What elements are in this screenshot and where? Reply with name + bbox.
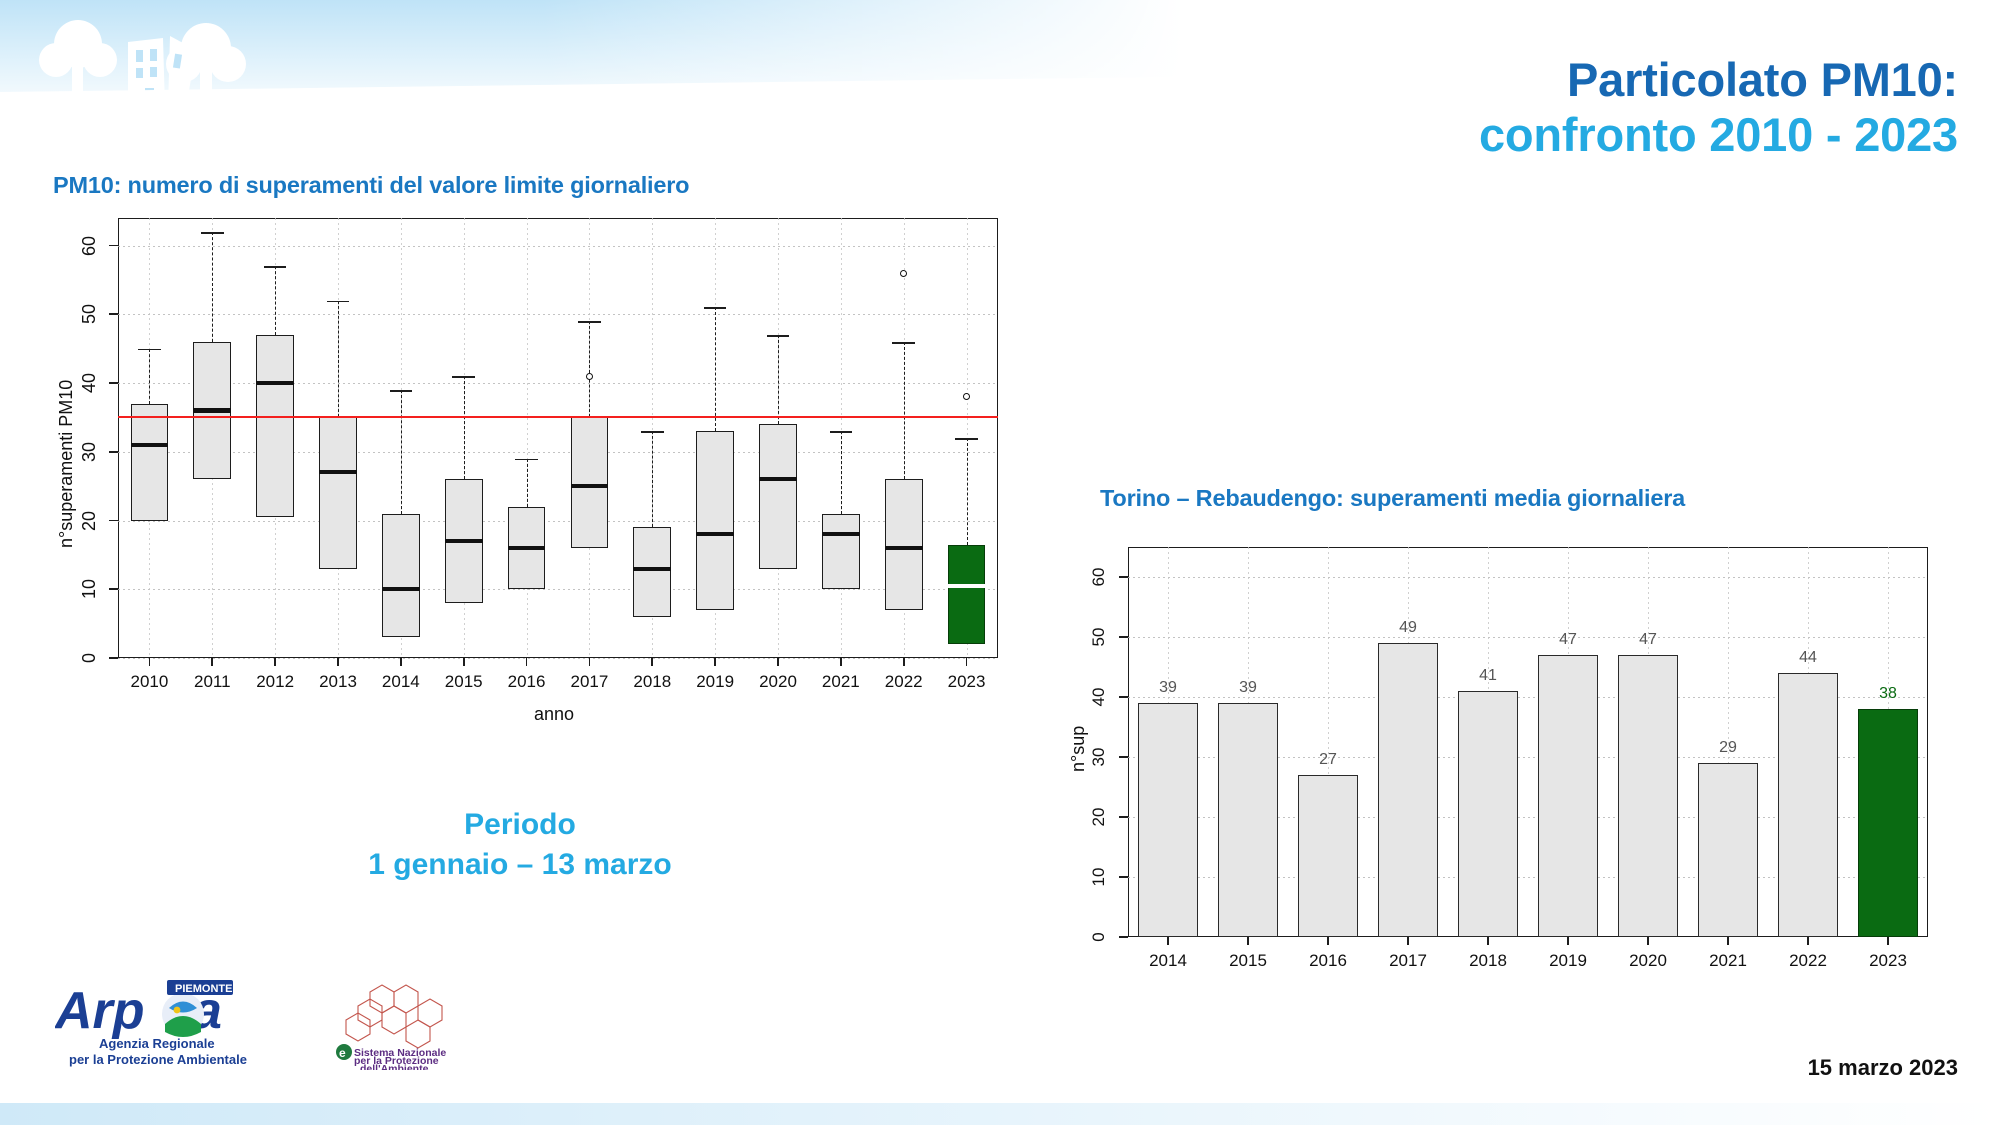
boxplot-whisker	[275, 266, 276, 335]
boxplot-median	[256, 381, 294, 385]
boxplot-x-tick-label: 2017	[553, 672, 625, 692]
boxplot-x-tick-label: 2016	[491, 672, 563, 692]
barchart-bar-value: 29	[1698, 739, 1758, 757]
barchart-y-tick	[1119, 576, 1128, 578]
boxplot-whisker	[401, 390, 402, 514]
boxplot-whisker	[715, 307, 716, 431]
barchart-x-tick-label: 2020	[1612, 951, 1684, 971]
boxplot-y-tick	[109, 382, 118, 384]
barchart-x-tick	[1807, 937, 1809, 945]
boxplot-x-tick	[777, 658, 779, 666]
barchart-bar-value: 44	[1778, 649, 1838, 667]
boxplot-y-tick-label: 50	[74, 303, 104, 325]
boxplot-whisker-cap	[892, 342, 915, 344]
boxplot-whisker	[149, 349, 150, 404]
barchart-bar	[1138, 703, 1197, 937]
boxplot-whisker-cap	[767, 335, 790, 337]
footer-band	[0, 1103, 2000, 1125]
boxplot-whisker-cap	[704, 307, 727, 309]
barchart-bar-value: 27	[1298, 751, 1358, 769]
boxplot-box	[822, 514, 860, 590]
boxplot-median	[445, 539, 483, 543]
boxplot-y-axis-label: n°superamenti PM10	[56, 380, 77, 548]
boxplot-x-tick	[274, 658, 276, 666]
boxplot-whisker	[778, 335, 779, 424]
barchart-y-tick-label: 0	[1084, 926, 1114, 948]
barchart-bar	[1218, 703, 1277, 937]
snpa-molecule-icon	[346, 985, 442, 1048]
boxplot-box	[948, 545, 986, 645]
barchart-bar-value: 49	[1378, 619, 1438, 637]
boxplot-x-tick-label: 2015	[428, 672, 500, 692]
barchart-y-tick-label: 60	[1084, 566, 1114, 588]
page-title: Particolato PM10: confronto 2010 - 2023	[1098, 52, 1958, 163]
boxplot-y-tick	[109, 451, 118, 453]
boxplot-whisker-cap	[201, 232, 224, 234]
periodo-line2: 1 gennaio – 13 marzo	[330, 845, 710, 885]
barchart-x-tick	[1407, 937, 1409, 945]
barchart-x-tick	[1487, 937, 1489, 945]
barchart-x-tick	[1887, 937, 1889, 945]
boxplot-x-tick-label: 2013	[302, 672, 374, 692]
boxplot-x-tick	[840, 658, 842, 666]
barchart-y-tick-label: 50	[1084, 626, 1114, 648]
boxplot-x-tick-label: 2014	[365, 672, 437, 692]
boxplot-whisker	[904, 342, 905, 480]
barchart-x-tick	[1167, 937, 1169, 945]
barchart-y-tick-label: 40	[1084, 686, 1114, 708]
boxplot-median	[633, 567, 671, 571]
snpa-badge: e	[339, 1046, 346, 1060]
boxplot-gridline	[118, 246, 998, 247]
arpa-logo-region: PIEMONTE	[175, 983, 232, 995]
page-title-line2: confronto 2010 - 2023	[1098, 107, 1958, 162]
arpa-logo-sub2: per la Protezione Ambientale	[69, 1052, 247, 1067]
boxplot-gridline	[118, 314, 998, 315]
barchart-x-tick-label: 2021	[1692, 951, 1764, 971]
boxplot-median	[319, 470, 357, 474]
barchart-x-tick-label: 2023	[1852, 951, 1924, 971]
boxplot-outlier	[586, 373, 593, 380]
boxplot-box	[131, 404, 169, 521]
boxplot-whisker-cap	[390, 390, 413, 392]
periodo-block: Periodo 1 gennaio – 13 marzo	[330, 805, 710, 885]
barchart-bar	[1538, 655, 1597, 937]
boxplot-whisker	[212, 232, 213, 342]
boxplot-y-tick	[109, 520, 118, 522]
boxplot-whisker-cap	[578, 321, 601, 323]
boxplot-whisker-cap	[830, 431, 853, 433]
boxplot-whisker-cap	[452, 376, 475, 378]
boxplot-whisker-cap	[138, 349, 161, 351]
boxplot-x-tick	[463, 658, 465, 666]
boxplot-x-tick	[400, 658, 402, 666]
boxplot-whisker-cap	[327, 301, 350, 303]
barchart-x-tick	[1567, 937, 1569, 945]
boxplot-y-tick-label: 30	[74, 441, 104, 463]
barchart-bar	[1458, 691, 1517, 937]
boxplot-x-tick	[714, 658, 716, 666]
boxplot-x-tick-label: 2018	[616, 672, 688, 692]
barchart-bar-value: 39	[1138, 679, 1198, 697]
barchart-y-tick	[1119, 696, 1128, 698]
barchart-x-tick-label: 2019	[1532, 951, 1604, 971]
boxplot-y-tick-label: 10	[74, 578, 104, 600]
snpa-line3: dell'Ambiente	[360, 1063, 429, 1070]
boxplot-median	[571, 484, 609, 488]
boxplot-median	[885, 546, 923, 550]
barchart-y-tick-label: 20	[1084, 806, 1114, 828]
barchart-x-tick-label: 2017	[1372, 951, 1444, 971]
boxplot-median	[193, 408, 231, 412]
barchart-x-tick-label: 2022	[1772, 951, 1844, 971]
boxplot-x-tick-label: 2020	[742, 672, 814, 692]
boxplot-x-tick-label: 2011	[176, 672, 248, 692]
boxplot-y-tick-label: 40	[74, 372, 104, 394]
date-stamp: 15 marzo 2023	[1808, 1055, 1958, 1081]
boxplot-box	[885, 479, 923, 610]
boxplot-x-tick	[149, 658, 151, 666]
boxplot-box	[633, 527, 671, 616]
boxplot-x-tick	[966, 658, 968, 666]
boxplot-gridline	[118, 452, 998, 453]
barchart-y-tick-label: 10	[1084, 866, 1114, 888]
boxplot-y-tick	[109, 657, 118, 659]
boxplot-median	[822, 532, 860, 536]
barchart-bar-value: 38	[1858, 685, 1918, 703]
barchart-y-tick	[1119, 936, 1128, 938]
barchart-bar	[1618, 655, 1677, 937]
boxplot-box	[256, 335, 294, 517]
boxplot-whisker	[527, 459, 528, 507]
barchart-x-tick	[1647, 937, 1649, 945]
boxplot-x-tick	[211, 658, 213, 666]
boxplot-y-tick	[109, 313, 118, 315]
barchart-chart: 0 10 20 30 40 50 60392014392015272016492…	[1020, 535, 1950, 1005]
barchart-bar-value: 41	[1458, 667, 1518, 685]
boxplot-x-tick-label: 2021	[805, 672, 877, 692]
boxplot-median	[382, 587, 420, 591]
barchart-bar	[1778, 673, 1837, 937]
boxplot-box	[319, 417, 357, 568]
arpa-logo-sub1: Agenzia Regionale	[99, 1036, 215, 1051]
boxplot-y-tick	[109, 588, 118, 590]
barchart-bar	[1858, 709, 1917, 937]
arpa-logo-wordmark: Arp	[55, 982, 145, 1040]
boxplot-whisker	[338, 301, 339, 418]
boxplot-whisker	[967, 438, 968, 545]
barchart-x-tick-label: 2016	[1292, 951, 1364, 971]
boxplot-box	[696, 431, 734, 610]
barchart-bar-value: 47	[1618, 631, 1678, 649]
barchart-bar-value: 47	[1538, 631, 1598, 649]
barchart-bar	[1698, 763, 1757, 937]
boxplot-gridline-v	[527, 218, 528, 658]
boxplot-y-tick-label: 20	[74, 510, 104, 532]
barchart-x-tick	[1327, 937, 1329, 945]
boxplot-median	[696, 532, 734, 536]
barchart-x-tick	[1727, 937, 1729, 945]
barchart-x-tick-label: 2018	[1452, 951, 1524, 971]
boxplot-y-tick-label: 0	[74, 647, 104, 669]
boxplot-x-tick	[903, 658, 905, 666]
periodo-line1: Periodo	[330, 805, 710, 845]
barchart-bar-value: 39	[1218, 679, 1278, 697]
arpa-logo-mark	[162, 993, 204, 1037]
boxplot-x-axis-label: anno	[534, 704, 574, 725]
boxplot-median	[948, 584, 986, 588]
barchart-chart-title: Torino – Rebaudengo: superamenti media g…	[1100, 485, 1685, 512]
boxplot-whisker	[652, 431, 653, 527]
boxplot-limit-line	[118, 416, 998, 418]
boxplot-x-tick-label: 2022	[868, 672, 940, 692]
boxplot-x-tick	[337, 658, 339, 666]
boxplot-box	[759, 424, 797, 568]
boxplot-x-tick-label: 2010	[113, 672, 185, 692]
boxplot-median	[508, 546, 546, 550]
boxplot-y-tick	[109, 245, 118, 247]
arpa-logo: Arp a PIEMONTE Agenzia Regionale per la …	[55, 978, 305, 1073]
boxplot-outlier	[900, 270, 907, 277]
page-title-line1: Particolato PM10:	[1098, 52, 1958, 107]
boxplot-x-tick	[651, 658, 653, 666]
boxplot-x-tick-label: 2019	[679, 672, 751, 692]
barchart-x-tick-label: 2014	[1132, 951, 1204, 971]
boxplot-x-tick	[589, 658, 591, 666]
header-decoration-band	[0, 0, 1240, 118]
barchart-y-tick	[1119, 816, 1128, 818]
boxplot-x-tick	[526, 658, 528, 666]
boxplot-whisker-cap	[264, 266, 287, 268]
boxplot-median	[131, 443, 169, 447]
snpa-logo: Sistema Nazionale per la Protezione dell…	[330, 980, 515, 1070]
boxplot-whisker-cap	[955, 438, 978, 440]
barchart-bar	[1378, 643, 1437, 937]
boxplot-median	[759, 477, 797, 481]
boxplot-plot-area	[118, 218, 998, 658]
boxplot-whisker	[464, 376, 465, 479]
boxplot-chart-title: PM10: numero di superamenti del valore l…	[53, 172, 689, 199]
barchart-y-tick	[1119, 876, 1128, 878]
barchart-x-tick-label: 2015	[1212, 951, 1284, 971]
boxplot-gridline	[118, 658, 998, 659]
boxplot-gridline	[118, 521, 998, 522]
barchart-x-tick	[1247, 937, 1249, 945]
boxplot-box	[571, 417, 609, 548]
barchart-y-tick	[1119, 636, 1128, 638]
boxplot-whisker-cap	[515, 459, 538, 461]
boxplot-chart: 0 10 20 30 40 50 60201020112012201320142…	[30, 210, 1000, 720]
boxplot-whisker	[841, 431, 842, 514]
boxplot-x-tick-label: 2012	[239, 672, 311, 692]
boxplot-gridline	[118, 589, 998, 590]
boxplot-gridline	[118, 383, 998, 384]
barchart-bar	[1298, 775, 1357, 937]
boxplot-y-tick-label: 60	[74, 235, 104, 257]
boxplot-x-tick-label: 2023	[931, 672, 1003, 692]
barchart-y-tick	[1119, 756, 1128, 758]
boxplot-whisker	[589, 321, 590, 417]
boxplot-box	[382, 514, 420, 638]
barchart-y-axis-label: n°sup	[1068, 726, 1089, 772]
boxplot-whisker-cap	[641, 431, 664, 433]
